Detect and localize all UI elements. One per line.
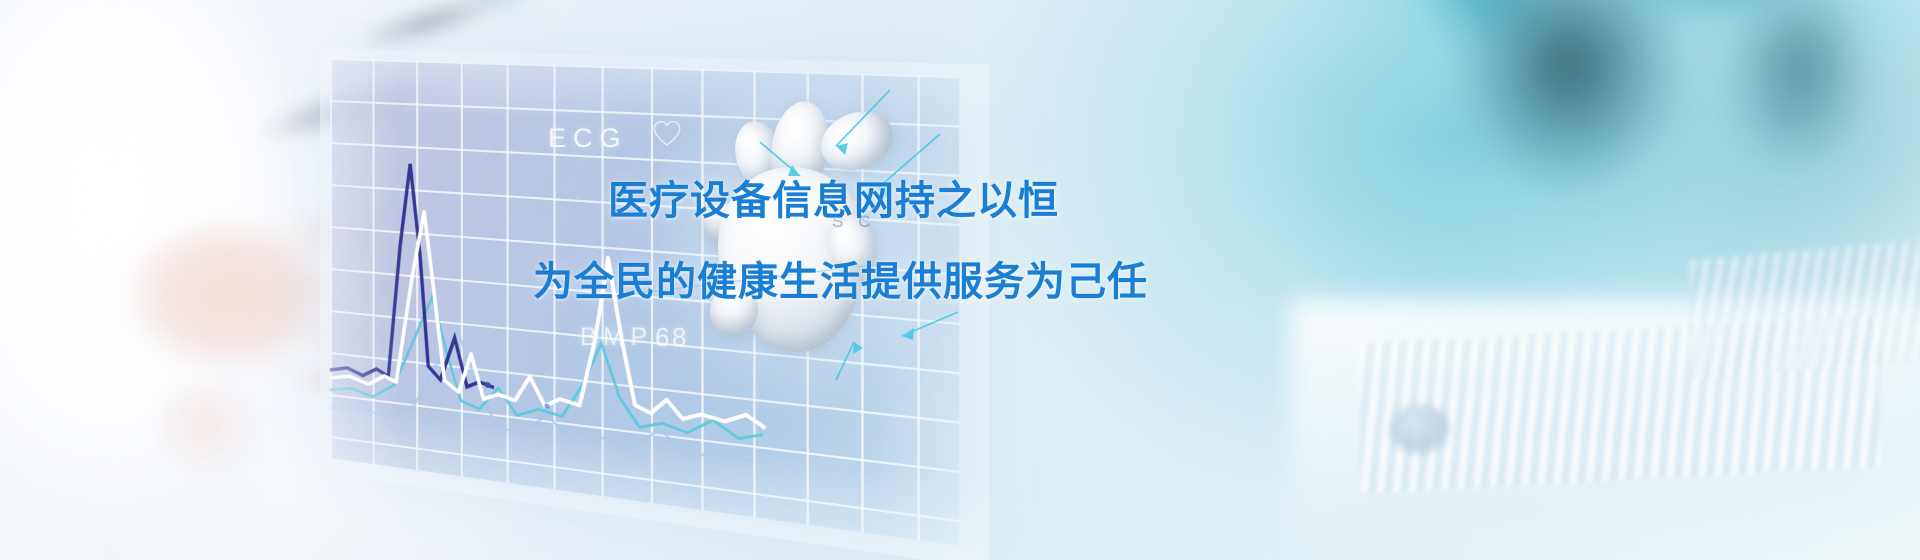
bmp-label: BMP [580, 323, 654, 352]
medical-banner: ECG BMP 68 S C 医疗设备信息网持之以恒 为全民的健康生活提供服务为… [0, 0, 1920, 560]
heart-outline-icon [650, 118, 684, 148]
arrow-icon [902, 328, 914, 340]
device-knob [1390, 405, 1450, 453]
arrow-icon [878, 134, 940, 188]
arrow-icon [853, 342, 863, 354]
sc-label: S C [832, 212, 876, 232]
arrow-icon [878, 186, 891, 198]
arrow-icon [836, 342, 854, 380]
device-ridges-secondary [1690, 240, 1920, 380]
ecg-label: ECG [548, 123, 628, 154]
bmp-value: 68 [655, 322, 689, 353]
connector-line [640, 264, 880, 294]
ecg-datapoint [485, 381, 491, 388]
arrow-icon [836, 90, 890, 146]
annotation-arrows [640, 80, 980, 410]
